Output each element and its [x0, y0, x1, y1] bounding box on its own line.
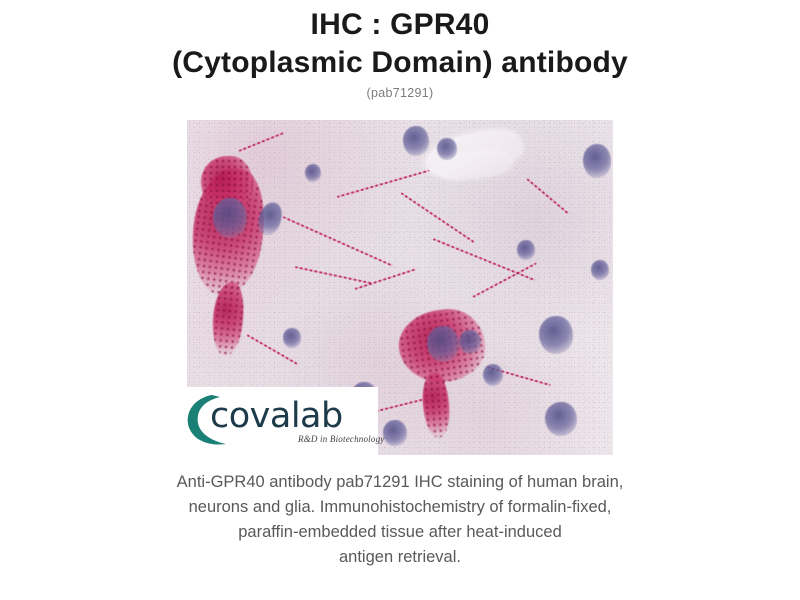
glial-nucleus	[517, 240, 535, 260]
neuron-nucleus-secondary	[427, 326, 459, 362]
catalog-number: (pab71291)	[0, 84, 800, 102]
figure-caption: Anti-GPR40 antibody pab71291 IHC stainin…	[0, 470, 800, 570]
glial-nucleus	[305, 164, 321, 182]
caption-line-3: paraffin-embedded tissue after heat-indu…	[0, 520, 800, 545]
glial-nucleus	[545, 402, 577, 436]
neuron-nucleus-primary	[213, 198, 247, 238]
glial-nucleus	[483, 364, 503, 386]
covalab-wordmark: covalab	[210, 395, 343, 437]
glial-nucleus	[459, 330, 481, 354]
glial-nucleus	[539, 316, 573, 354]
page-title-line-2: (Cytoplasmic Domain) antibody	[0, 44, 800, 82]
caption-line-1: Anti-GPR40 antibody pab71291 IHC stainin…	[0, 470, 800, 495]
glial-nucleus	[591, 260, 609, 280]
caption-line-2: neurons and glia. Immunohistochemistry o…	[0, 495, 800, 520]
covalab-tagline: R&D in Biotechnology	[298, 434, 384, 444]
glial-nucleus	[403, 126, 429, 156]
glial-nucleus	[437, 138, 457, 160]
glial-nucleus	[283, 328, 301, 348]
glial-nucleus	[583, 144, 611, 178]
glial-nucleus	[383, 420, 407, 446]
figure-header: IHC : GPR40 (Cytoplasmic Domain) antibod…	[0, 0, 800, 102]
covalab-logo: covalab R&D in Biotechnology	[180, 387, 378, 455]
page-title-line-1: IHC : GPR40	[0, 6, 800, 44]
caption-line-4: antigen retrieval.	[0, 545, 800, 570]
